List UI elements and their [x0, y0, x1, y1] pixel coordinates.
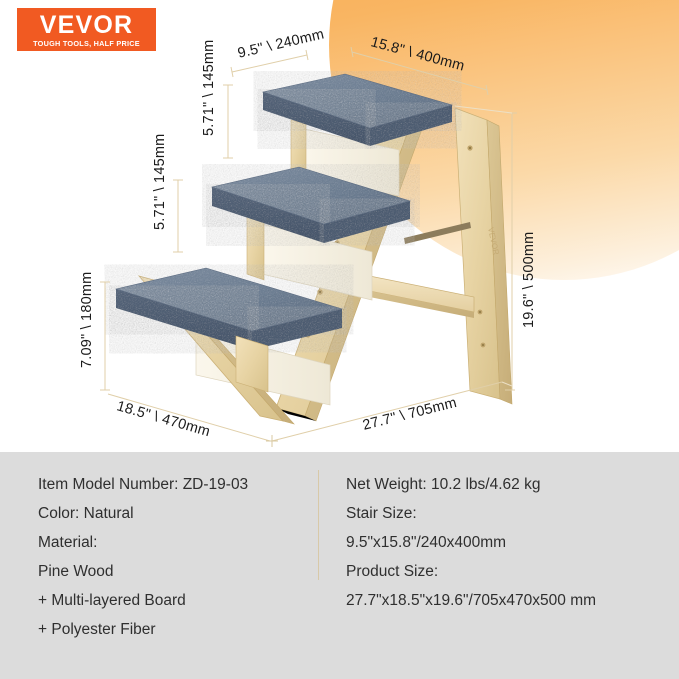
dimension-label-overall-height: 19.6" \ 500mm	[521, 232, 537, 328]
product-hero-area: VEVOR TOUGH TOOLS, HALF PRICE	[0, 0, 679, 452]
spec-color: Color: Natural	[38, 499, 320, 528]
specification-panel: Item Model Number: ZD-19-03 Color: Natur…	[0, 452, 679, 679]
frame-upper-crossbar	[404, 222, 471, 244]
spec-material-pine-wood: Pine Wood	[38, 557, 320, 586]
frame-rear-leg: VEVOR	[455, 108, 512, 404]
spec-stair-size-label: Stair Size:	[346, 499, 679, 528]
spec-stair-size-value: 9.5"x15.8"/240x400mm	[346, 528, 679, 557]
dimension-corner-tick	[266, 435, 278, 447]
spec-item-model-number: Item Model Number: ZD-19-03	[38, 470, 320, 499]
frame-front-support	[236, 336, 268, 392]
product-illustration: VEVOR	[0, 0, 679, 452]
spec-material-label: Material:	[38, 528, 320, 557]
spec-net-weight: Net Weight: 10.2 lbs/4.62 kg	[346, 470, 679, 499]
spec-column-right: Net Weight: 10.2 lbs/4.62 kg Stair Size:…	[320, 470, 679, 679]
product-spec-image: VEVOR TOUGH TOOLS, HALF PRICE	[0, 0, 679, 679]
dimension-label-rise-middle: 5.71" \ 145mm	[152, 134, 168, 230]
spec-material-polyester-fiber: + Polyester Fiber	[38, 615, 320, 644]
dimension-label-rise-top: 5.71" \ 145mm	[201, 40, 217, 136]
spec-material-multi-layered-board: + Multi-layered Board	[38, 586, 320, 615]
spec-column-divider	[318, 470, 319, 580]
spec-column-left: Item Model Number: ZD-19-03 Color: Natur…	[0, 470, 320, 679]
spec-product-size-value: 27.7"x18.5"x19.6"/705x470x500 mm	[346, 586, 679, 615]
spec-product-size-label: Product Size:	[346, 557, 679, 586]
dimension-label-rise-bottom: 7.09" \ 180mm	[79, 272, 95, 368]
